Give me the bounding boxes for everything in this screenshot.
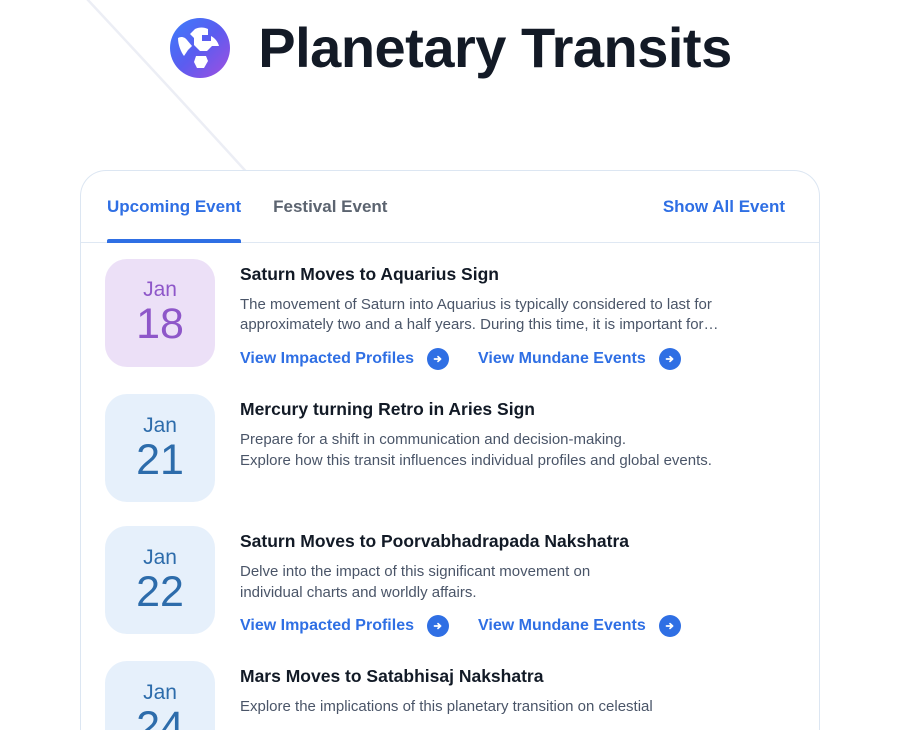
- event-actions: View Impacted Profiles View Mundane Even…: [240, 615, 793, 637]
- tab-upcoming-event[interactable]: Upcoming Event: [107, 171, 241, 242]
- date-month: Jan: [143, 278, 177, 301]
- date-day: 24: [136, 705, 184, 730]
- action-label: View Impacted Profiles: [240, 617, 414, 635]
- tab-upcoming-event-label: Upcoming Event: [107, 197, 241, 217]
- list-item[interactable]: Jan 22 Saturn Moves to Poorvabhadrapada …: [81, 510, 819, 645]
- date-day: 18: [136, 302, 184, 347]
- arrow-right-icon[interactable]: [659, 615, 681, 637]
- date-day: 22: [136, 570, 184, 615]
- event-title: Saturn Moves to Aquarius Sign: [240, 263, 793, 286]
- show-all-event-link[interactable]: Show All Event: [663, 197, 793, 217]
- date-badge: Jan 24: [105, 661, 215, 730]
- events-panel: Upcoming Event Festival Event Show All E…: [80, 170, 820, 730]
- page-title: Planetary Transits: [258, 20, 731, 76]
- arrow-right-icon[interactable]: [427, 348, 449, 370]
- event-body: Saturn Moves to Aquarius Sign The moveme…: [240, 259, 793, 370]
- date-month: Jan: [143, 681, 177, 704]
- date-badge: Jan 21: [105, 394, 215, 502]
- tab-group: Upcoming Event Festival Event: [107, 171, 387, 242]
- event-title: Saturn Moves to Poorvabhadrapada Nakshat…: [240, 530, 793, 553]
- arrow-right-icon[interactable]: [427, 615, 449, 637]
- event-actions: View Impacted Profiles View Mundane Even…: [240, 348, 793, 370]
- date-badge: Jan 18: [105, 259, 215, 367]
- event-description: Explore the implications of this planeta…: [240, 697, 793, 718]
- action-label: View Mundane Events: [478, 350, 646, 368]
- tab-festival-event-label: Festival Event: [273, 197, 387, 217]
- globe-icon: [168, 16, 232, 80]
- date-day: 21: [136, 438, 184, 483]
- action-label: View Mundane Events: [478, 617, 646, 635]
- list-item[interactable]: Jan 18 Saturn Moves to Aquarius Sign The…: [81, 243, 819, 378]
- view-mundane-events-link[interactable]: View Mundane Events: [478, 615, 681, 637]
- event-description: The movement of Saturn into Aquarius is …: [240, 295, 793, 336]
- action-label: View Impacted Profiles: [240, 350, 414, 368]
- event-body: Mars Moves to Satabhisaj Nakshatra Explo…: [240, 661, 793, 717]
- tab-festival-event[interactable]: Festival Event: [273, 171, 387, 242]
- event-description: Prepare for a shift in communication and…: [240, 430, 793, 471]
- view-impacted-profiles-link[interactable]: View Impacted Profiles: [240, 615, 449, 637]
- list-item[interactable]: Jan 24 Mars Moves to Satabhisaj Nakshatr…: [81, 645, 819, 730]
- event-title: Mercury turning Retro in Aries Sign: [240, 398, 793, 421]
- event-title: Mars Moves to Satabhisaj Nakshatra: [240, 665, 793, 688]
- event-list: Jan 18 Saturn Moves to Aquarius Sign The…: [81, 243, 819, 730]
- arrow-right-icon[interactable]: [659, 348, 681, 370]
- date-month: Jan: [143, 546, 177, 569]
- date-badge: Jan 22: [105, 526, 215, 634]
- event-body: Mercury turning Retro in Aries Sign Prep…: [240, 394, 793, 471]
- event-body: Saturn Moves to Poorvabhadrapada Nakshat…: [240, 526, 793, 637]
- view-impacted-profiles-link[interactable]: View Impacted Profiles: [240, 348, 449, 370]
- tab-bar: Upcoming Event Festival Event Show All E…: [81, 171, 819, 243]
- date-month: Jan: [143, 414, 177, 437]
- event-description: Delve into the impact of this significan…: [240, 562, 793, 603]
- list-item[interactable]: Jan 21 Mercury turning Retro in Aries Si…: [81, 378, 819, 510]
- page-header: Planetary Transits: [0, 0, 900, 78]
- view-mundane-events-link[interactable]: View Mundane Events: [478, 348, 681, 370]
